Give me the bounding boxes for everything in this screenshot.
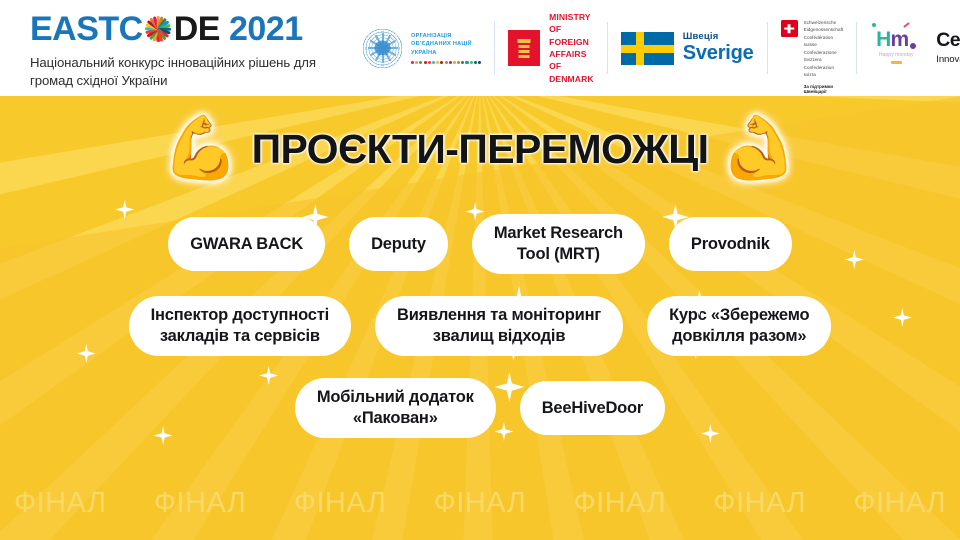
sparkle-star-icon xyxy=(259,366,278,385)
eastcode-word-east: EASTC xyxy=(30,12,143,46)
hm-caption: Happy monday xyxy=(870,52,922,58)
project-pill-line: Provodnik xyxy=(691,234,770,255)
project-row: Мобільний додаток«Пакован»BeeHiveDoor xyxy=(0,378,960,438)
project-pill-vyyavlennya-monitoryng-zvalyshch[interactable]: Виявлення та моніторингзвалищ відходів xyxy=(375,296,623,356)
project-pill-line: Мобільний додаток xyxy=(317,387,474,408)
eastcode-year: 2021 xyxy=(229,12,303,46)
final-watermark-word: ФІНАЛ xyxy=(154,489,247,518)
partner-happy-monday: H m Happy monday xyxy=(870,16,922,80)
un-line-2: ОБ'ЄДНАНИХ НАЦІЙ xyxy=(411,40,481,48)
project-pill-beehivedoor[interactable]: BeeHiveDoor xyxy=(520,381,665,435)
project-pill-market-research-tool[interactable]: Market ResearchTool (MRT) xyxy=(472,214,645,274)
project-pill-mobilnyi-dodatok-pakovan[interactable]: Мобільний додаток«Пакован» xyxy=(295,378,496,438)
project-pill-inspector-dostupnosti[interactable]: Інспектор доступностізакладів та сервісі… xyxy=(129,296,351,356)
denmark-crest-icon xyxy=(508,30,540,66)
eastcode-tagline: Національний конкурс інноваційних рішень… xyxy=(30,54,320,89)
project-pill-line: Інспектор доступності xyxy=(151,305,329,326)
sdg-dots-icon xyxy=(411,61,481,64)
final-watermark-word: ФІНАЛ xyxy=(434,489,527,518)
denmark-line-3: OF DENMARK xyxy=(549,60,594,85)
stage: 💪 ПРОЄКТИ-ПЕРЕМОЖЦІ 💪 GWARA BACKDeputyMa… xyxy=(0,96,960,540)
denmark-line-1: MINISTRY OF xyxy=(549,11,594,36)
eastcode-wordmark: EASTC DE 2021 xyxy=(30,11,330,47)
center42-sub: Innovation Agency xyxy=(936,55,960,65)
eastcode-word-de: DE xyxy=(174,12,220,46)
center42-main: Center42 xyxy=(936,31,960,51)
project-pill-line: Market Research xyxy=(494,223,623,244)
swiss-line-2: Confédération suisse xyxy=(804,34,844,49)
sparkle-star-icon xyxy=(701,424,720,443)
partner-logos: ОРГАНІЗАЦІЯ ОБ'ЄДНАНИХ НАЦІЙ УКРАЇНА MIN… xyxy=(362,16,960,80)
partner-denmark: MINISTRY OF FOREIGN AFFAIRS OF DENMARK xyxy=(508,16,594,80)
project-pill-provodnik[interactable]: Provodnik xyxy=(669,217,792,271)
swiss-line-3: Confederazione Svizzera xyxy=(804,49,844,64)
swiss-support-note: За підтримки Швейцарії xyxy=(804,84,844,94)
project-pill-line: довкілля разом» xyxy=(669,326,809,347)
final-watermark-word: ФІНАЛ xyxy=(294,489,387,518)
hm-dot-icon xyxy=(910,43,916,49)
project-pill-gwara-back[interactable]: GWARA BACK xyxy=(168,217,325,271)
project-pill-line: закладів та сервісів xyxy=(151,326,329,347)
project-pill-line: звалищ відходів xyxy=(397,326,601,347)
project-pill-line: Tool (MRT) xyxy=(494,244,623,265)
sweden-flag-icon xyxy=(621,32,674,65)
partner-switzerland: Schweizerische Eidgenossenschaft Confédé… xyxy=(781,16,844,80)
partner-un-ukraine: ОРГАНІЗАЦІЯ ОБ'ЄДНАНИХ НАЦІЙ УКРАЇНА xyxy=(362,16,481,80)
divider xyxy=(494,22,495,74)
sparkle-star-icon xyxy=(494,372,524,402)
swiss-line-1: Schweizerische Eidgenossenschaft xyxy=(804,19,844,34)
happy-monday-icon: H m Happy monday xyxy=(870,25,922,71)
flexed-biceps-icon-left: 💪 xyxy=(162,118,239,180)
sweden-sub: Швеція xyxy=(683,32,754,42)
partner-sweden: Швеція Sverige xyxy=(621,16,754,80)
title-row: 💪 ПРОЄКТИ-ПЕРЕМОЖЦІ 💪 xyxy=(0,118,960,180)
page-title: ПРОЄКТИ-ПЕРЕМОЖЦІ xyxy=(252,129,709,170)
un-line-3: УКРАЇНА xyxy=(411,49,481,57)
project-pill-line: «Пакован» xyxy=(317,408,474,429)
hm-letter-m: m xyxy=(891,29,909,50)
swiss-line-4: Confederaziun svizra xyxy=(804,64,844,79)
flexed-biceps-icon-right: 💪 xyxy=(720,118,797,180)
final-watermark-word: ФІНАЛ xyxy=(14,489,107,518)
partner-center42: Center42 Innovation Agency xyxy=(936,16,960,80)
final-watermark-word: ФІНАЛ xyxy=(853,489,946,518)
denmark-line-2: FOREIGN AFFAIRS xyxy=(549,36,594,61)
final-watermark-word: ФІНАЛ xyxy=(574,489,667,518)
sparkle-star-icon xyxy=(154,426,173,445)
project-row: Інспектор доступностізакладів та сервісі… xyxy=(0,296,960,356)
sparkle-star-icon xyxy=(845,250,864,269)
sparkle-star-icon xyxy=(494,422,513,441)
divider xyxy=(767,22,768,74)
eastcode-logo: EASTC DE 2021 Національний конкурс іннов… xyxy=(30,11,330,89)
swiss-cross-icon xyxy=(781,20,798,37)
sparkle-star-icon xyxy=(893,308,912,327)
divider xyxy=(607,22,608,74)
project-pill-deputy[interactable]: Deputy xyxy=(349,217,448,271)
project-pill-kurs-zberezhemo-dovkillya[interactable]: Курс «Збережемодовкілля разом» xyxy=(647,296,831,356)
project-pill-line: BeeHiveDoor xyxy=(542,398,643,419)
project-row: GWARA BACKDeputyMarket ResearchTool (MRT… xyxy=(0,214,960,274)
divider xyxy=(856,22,857,74)
project-rows: GWARA BACKDeputyMarket ResearchTool (MRT… xyxy=(0,214,960,460)
hm-bar-icon xyxy=(891,61,902,64)
slide-root: EASTC DE 2021 Національний конкурс іннов… xyxy=(0,0,960,540)
project-pill-line: Виявлення та моніторинг xyxy=(397,305,601,326)
header-band: EASTC DE 2021 Національний конкурс іннов… xyxy=(0,0,960,96)
project-pill-line: Курс «Збережемо xyxy=(669,305,809,326)
sparkle-star-icon xyxy=(77,344,96,363)
final-footer-band: ФІНАЛФІНАЛФІНАЛФІНАЛФІНАЛФІНАЛФІНАЛ xyxy=(0,466,960,540)
un-line-1: ОРГАНІЗАЦІЯ xyxy=(411,32,481,40)
sweden-main: Sverige xyxy=(683,43,754,64)
sdg-burst-icon xyxy=(144,15,173,44)
project-pill-line: GWARA BACK xyxy=(190,234,303,255)
final-watermark-word: ФІНАЛ xyxy=(714,489,807,518)
hm-letter-h: H xyxy=(876,29,890,50)
project-pill-line: Deputy xyxy=(371,234,426,255)
un-emblem-icon xyxy=(362,28,403,69)
